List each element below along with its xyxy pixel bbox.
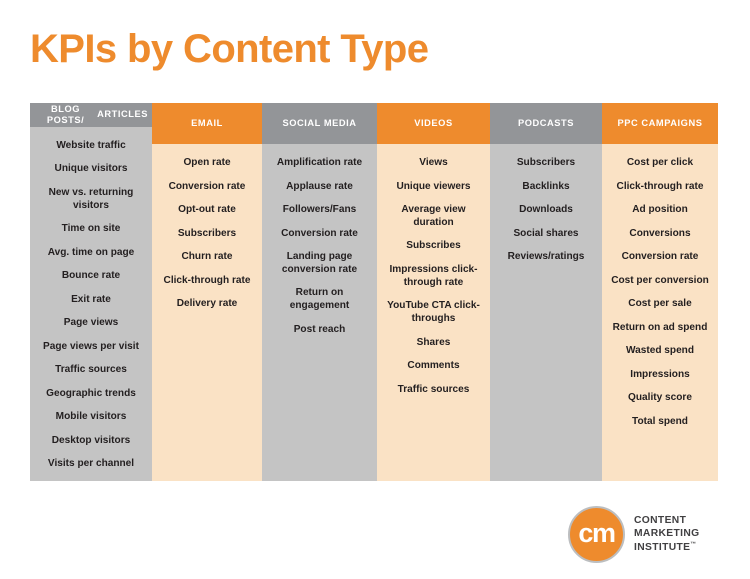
kpi-item: Applause rate (267, 181, 372, 194)
kpi-item: Impressions (607, 369, 713, 382)
kpi-item: Unique visitors (35, 163, 147, 176)
column-header[interactable]: BLOG POSTS/ARTICLES (30, 103, 152, 127)
kpi-item: Average view duration (382, 204, 485, 230)
column-header-line: SOCIAL MEDIA (282, 118, 356, 129)
kpi-column-4: VIDEOSViewsUnique viewersAverage view du… (377, 103, 490, 481)
kpi-item: Subscribers (157, 228, 257, 241)
logo-line-institute: INSTITUTE™ (634, 541, 700, 555)
kpi-item: Page views per visit (35, 341, 147, 354)
kpi-item: Comments (382, 360, 485, 373)
kpi-item: Geographic trends (35, 388, 147, 401)
column-header-line: VIDEOS (414, 118, 452, 129)
kpi-item: Unique viewers (382, 181, 485, 194)
trademark-symbol: ™ (690, 541, 696, 547)
kpi-item: Cost per sale (607, 298, 713, 311)
kpi-column-2: EMAILOpen rateConversion rateOpt-out rat… (152, 103, 262, 481)
kpi-item: Exit rate (35, 294, 147, 307)
column-header-line: ARTICLES (97, 109, 148, 120)
column-body: Cost per clickClick-through rateAd posit… (602, 144, 718, 481)
kpi-item: Amplification rate (267, 157, 372, 170)
kpi-item: Backlinks (495, 181, 597, 194)
logo-cm-text: cm (568, 506, 625, 563)
cmi-logo-mark: cm (568, 506, 625, 563)
column-header[interactable]: PPC CAMPAIGNS (602, 103, 718, 144)
kpi-item: Desktop visitors (35, 435, 147, 448)
column-body: Open rateConversion rateOpt-out rateSubs… (152, 144, 262, 481)
kpi-item: Ad position (607, 204, 713, 217)
kpi-item: Click-through rate (607, 181, 713, 194)
kpi-item: New vs. returning visitors (35, 187, 147, 213)
column-header[interactable]: EMAIL (152, 103, 262, 144)
kpi-item: YouTube CTA click-throughs (382, 300, 485, 326)
column-header-line: PODCASTS (518, 118, 574, 129)
kpi-item: Shares (382, 337, 485, 350)
kpi-item: Total spend (607, 416, 713, 429)
kpi-item: Subscribes (382, 240, 485, 253)
column-header[interactable]: PODCASTS (490, 103, 602, 144)
kpi-item: Conversion rate (267, 228, 372, 241)
kpi-item: Conversion rate (607, 251, 713, 264)
column-header-line: PPC CAMPAIGNS (618, 118, 703, 129)
kpi-item: Bounce rate (35, 270, 147, 283)
kpi-item: Time on site (35, 223, 147, 236)
column-body: ViewsUnique viewersAverage view duration… (377, 144, 490, 481)
kpi-item: Page views (35, 317, 147, 330)
kpi-item: Views (382, 157, 485, 170)
kpi-item: Opt-out rate (157, 204, 257, 217)
kpi-table: BLOG POSTS/ARTICLESWebsite trafficUnique… (30, 103, 718, 481)
logo-wordmark: CONTENT MARKETING INSTITUTE™ (634, 514, 700, 555)
kpi-item: Downloads (495, 204, 597, 217)
kpi-item: Landing page conversion rate (267, 251, 372, 277)
kpi-item: Followers/Fans (267, 204, 372, 217)
column-header[interactable]: SOCIAL MEDIA (262, 103, 377, 144)
kpi-item: Conversions (607, 228, 713, 241)
kpi-item: Quality score (607, 392, 713, 405)
column-header-line: EMAIL (191, 118, 223, 129)
column-body: SubscribersBacklinksDownloadsSocial shar… (490, 144, 602, 481)
kpi-column-6: PPC CAMPAIGNSCost per clickClick-through… (602, 103, 718, 481)
logo-line-content: CONTENT (634, 514, 700, 528)
kpi-column-5: PODCASTSSubscribersBacklinksDownloadsSoc… (490, 103, 602, 481)
kpi-item: Churn rate (157, 251, 257, 264)
column-header[interactable]: VIDEOS (377, 103, 490, 144)
content-marketing-institute-logo: cm CONTENT MARKETING INSTITUTE™ (568, 504, 728, 564)
page-title: KPIs by Content Type (30, 29, 428, 69)
kpi-item: Cost per click (607, 157, 713, 170)
kpi-item: Traffic sources (382, 384, 485, 397)
column-body: Website trafficUnique visitorsNew vs. re… (30, 127, 152, 481)
kpi-item: Mobile visitors (35, 411, 147, 424)
kpi-item: Cost per conversion (607, 275, 713, 288)
kpi-item: Traffic sources (35, 364, 147, 377)
kpi-item: Open rate (157, 157, 257, 170)
kpi-item: Visits per channel (35, 458, 147, 471)
kpi-item: Return on engagement (267, 287, 372, 313)
kpi-item: Website traffic (35, 140, 147, 153)
kpi-item: Wasted spend (607, 345, 713, 358)
kpi-column-3: SOCIAL MEDIAAmplification rateApplause r… (262, 103, 377, 481)
kpi-item: Post reach (267, 324, 372, 337)
kpi-item: Subscribers (495, 157, 597, 170)
column-body: Amplification rateApplause rateFollowers… (262, 144, 377, 481)
kpi-item: Click-through rate (157, 275, 257, 288)
logo-institute-text: INSTITUTE (634, 542, 690, 553)
kpi-column-1: BLOG POSTS/ARTICLESWebsite trafficUnique… (30, 103, 152, 481)
kpi-item: Avg. time on page (35, 247, 147, 260)
kpi-item: Delivery rate (157, 298, 257, 311)
kpi-item: Social shares (495, 228, 597, 241)
kpi-item: Return on ad spend (607, 322, 713, 335)
kpi-item: Impressions click-through rate (382, 264, 485, 290)
column-header-line: BLOG POSTS/ (34, 104, 97, 127)
logo-line-marketing: MARKETING (634, 527, 700, 541)
kpi-item: Reviews/ratings (495, 251, 597, 264)
kpi-item: Conversion rate (157, 181, 257, 194)
